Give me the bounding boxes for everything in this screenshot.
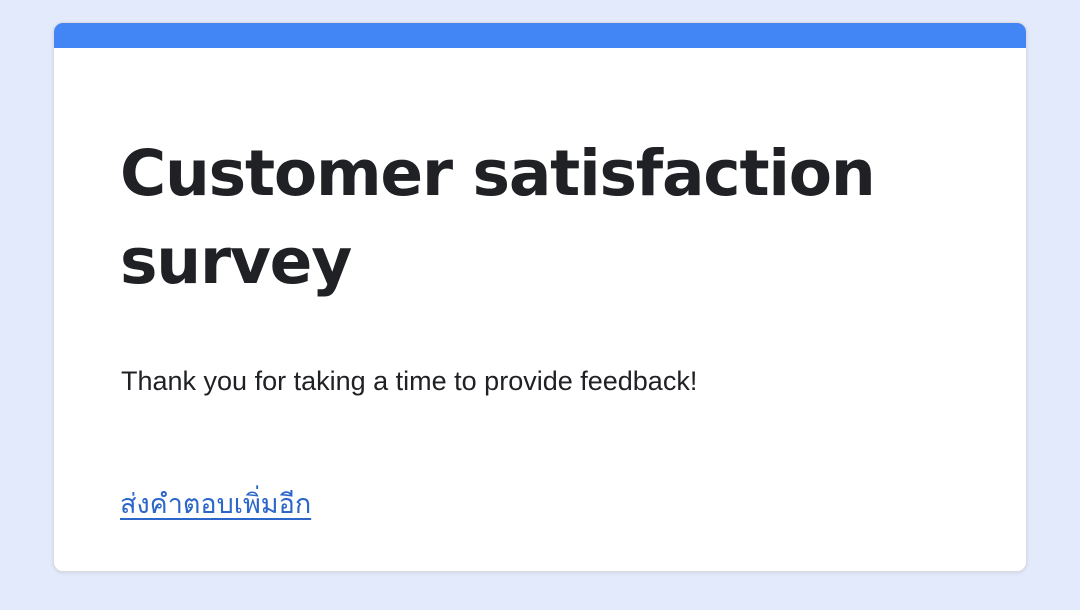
form-card: Customer satisfaction survey Thank you f…	[53, 22, 1027, 572]
submit-another-response-link[interactable]: ส่งคำตอบเพิ่มอีก	[120, 486, 311, 522]
form-title: Customer satisfaction survey	[120, 130, 950, 306]
form-card-body: Customer satisfaction survey Thank you f…	[54, 48, 1026, 571]
form-header-banner	[54, 23, 1026, 48]
form-confirmation-page: Customer satisfaction survey Thank you f…	[0, 0, 1080, 610]
confirmation-message: Thank you for taking a time to provide f…	[121, 363, 961, 399]
